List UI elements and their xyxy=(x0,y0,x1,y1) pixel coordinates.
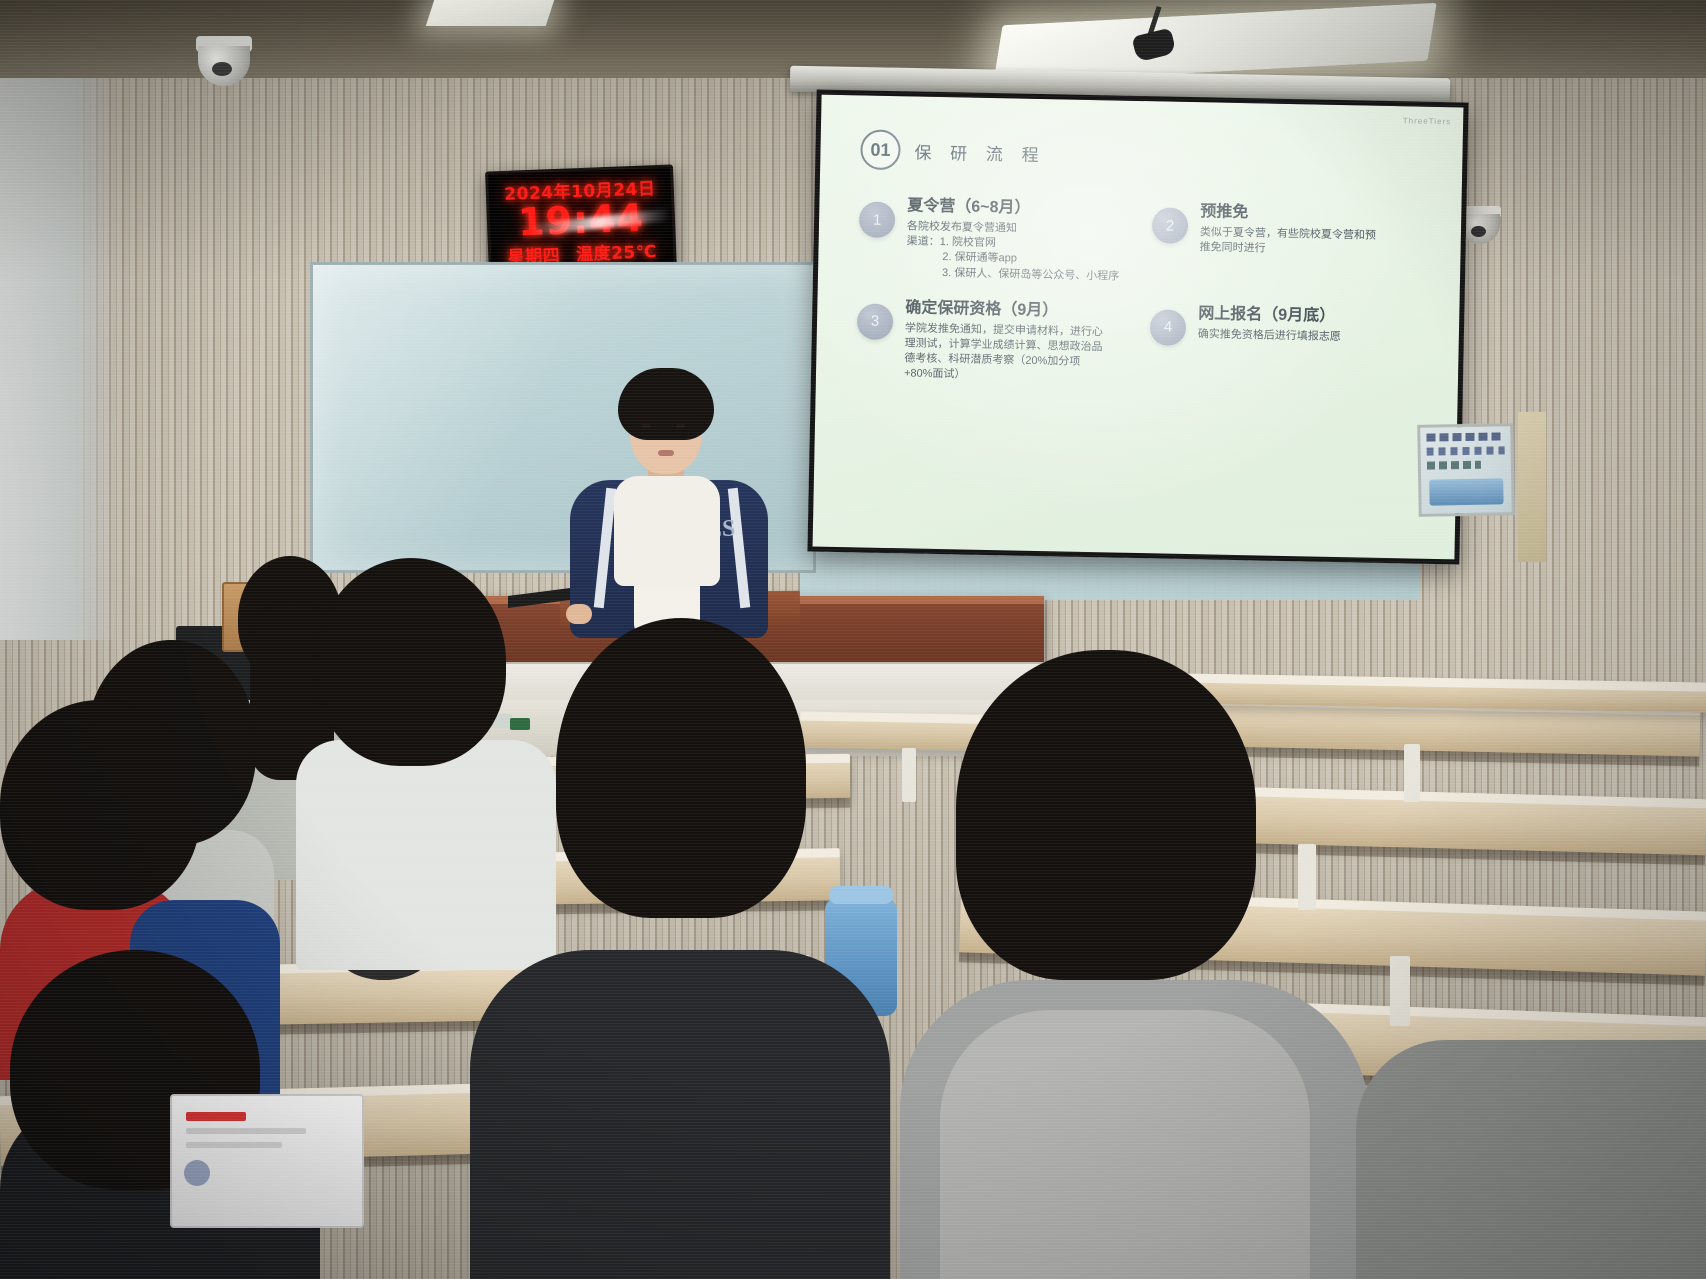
slide-item-1: 1 夏令营（6~8月） 各院校发布夏令营通知 渠道：1. 院校官网 2. 保研通… xyxy=(858,195,1143,284)
item-3-line2: 理测试，计算学业成绩计算、思想政治品 xyxy=(905,337,1103,353)
item-heading-3: 确定保研资格（9月） xyxy=(905,298,1103,322)
item-2-line1: 类似于夏令营，有些院校夏令营和预 xyxy=(1200,226,1376,242)
door-frame xyxy=(1518,412,1546,562)
dome-camera-icon xyxy=(190,36,258,98)
item-heading-2: 预推免 xyxy=(1200,202,1376,226)
item-1-line4: 3. 保研人、保研岛等公众号、小程序 xyxy=(906,265,1119,284)
slide-item-3: 3 确定保研资格（9月） 学院发推免通知，提交申请材料，进行心 理测试，计算学业… xyxy=(856,297,1141,386)
item-number-1: 1 xyxy=(859,201,896,238)
desk-object-green xyxy=(510,718,530,730)
screen-brand-label: ThreeTiers xyxy=(1403,116,1452,126)
projection-screen: 01 保 研 流 程 1 夏令营（6~8月） 各院校发布夏令营通知 渠道：1. … xyxy=(807,90,1468,565)
item-4-line1: 确实推免资格后进行填报志愿 xyxy=(1198,328,1341,343)
section-number-badge: 01 xyxy=(860,129,901,170)
led-clock-display: 2024年10月24日 19:44 星期四 温度25℃ xyxy=(485,164,677,277)
item-3-line1: 学院发推免通知，提交申请材料，进行心 xyxy=(905,322,1103,338)
item-heading-4: 网上报名（9月底） xyxy=(1198,304,1341,327)
presenter: ES xyxy=(556,368,796,638)
ceiling-light-secondary xyxy=(426,0,554,26)
slide-items-grid: 1 夏令营（6~8月） 各院校发布夏令营通知 渠道：1. 院校官网 2. 保研通… xyxy=(856,195,1436,392)
wall-poster xyxy=(1417,423,1515,517)
item-1-line1: 各院校发布夏令营通知 xyxy=(907,220,1017,234)
item-3-line3: 德考核、科研潜质考察（20%加分项 xyxy=(904,352,1080,368)
item-3-line4: +80%面试） xyxy=(904,368,966,381)
presenter-hood xyxy=(614,476,720,586)
desk-leg xyxy=(1404,744,1420,802)
slide-title: 保 研 流 程 xyxy=(914,138,1046,166)
item-number-3: 3 xyxy=(857,303,894,340)
led-temperature: 温度25℃ xyxy=(576,237,658,265)
item-2-line2: 推免同时进行 xyxy=(1199,241,1265,254)
desk-leg xyxy=(902,748,916,802)
item-number-2: 2 xyxy=(1152,207,1189,244)
slide-header: 01 保 研 流 程 xyxy=(860,129,1437,181)
desk-leg xyxy=(1298,844,1316,910)
presenter-hand xyxy=(566,604,592,624)
slide-item-2: 2 预推免 类似于夏令营，有些院校夏令营和预 推免同时进行 xyxy=(1151,201,1436,290)
slide-content: 01 保 研 流 程 1 夏令营（6~8月） 各院校发布夏令营通知 渠道：1. … xyxy=(813,95,1464,560)
item-heading-1: 夏令营（6~8月） xyxy=(907,196,1121,220)
classroom-photo: 2024年10月24日 19:44 星期四 温度25℃ 01 保 研 流 程 1… xyxy=(0,0,1706,1279)
slide-item-4: 4 网上报名（9月底） 确实推免资格后进行填报志愿 xyxy=(1149,303,1434,392)
laptop-screen xyxy=(170,1094,364,1228)
desk-leg xyxy=(1390,956,1410,1026)
spotlight xyxy=(1128,6,1182,60)
item-1-line2: 渠道：1. 院校官网 xyxy=(907,236,996,250)
item-number-4: 4 xyxy=(1150,309,1187,346)
